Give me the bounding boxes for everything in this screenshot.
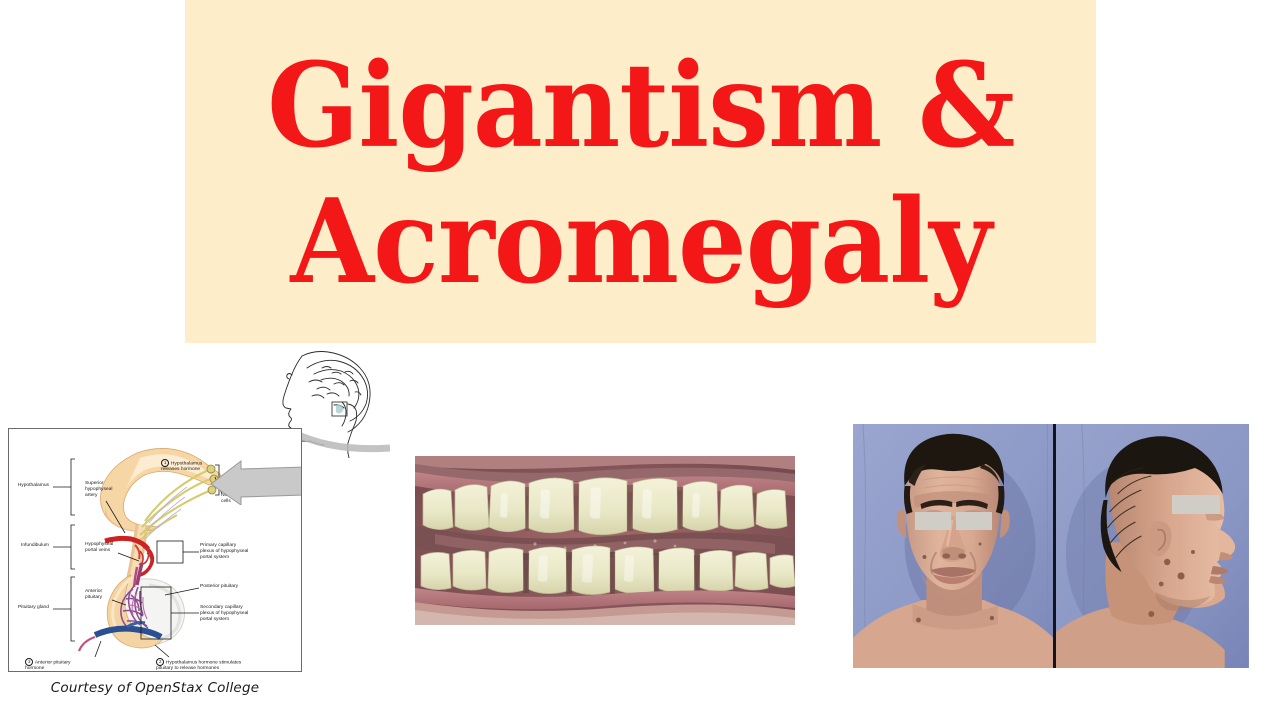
title-line-1: Gigantism & <box>267 36 1014 178</box>
title-line-2: Acromegaly <box>290 172 991 314</box>
label-hypothalamus: Hypothalamus <box>15 483 49 489</box>
eye-censor-bar-profile <box>1172 495 1220 515</box>
pituitary-diagram-frame: Hypothalamus Infundibulum Pituitary glan… <box>8 428 302 672</box>
figure-pituitary-diagram: Hypothalamus Infundibulum Pituitary glan… <box>0 350 340 720</box>
step-2-hypothalamus-hormone-stimulates: 2Hypothalamus hormone stimulates pituita… <box>156 652 284 672</box>
step-2-text: Hypothalamus hormone stimulates pituitar… <box>156 660 241 671</box>
label-posterior-pituitary: Posterior pituitary <box>200 584 272 590</box>
eye-censor-bar-left <box>915 512 951 530</box>
step-3-anterior-pituitary-hormone: 3Anterior pituitary hormone <box>25 652 103 672</box>
photo-teeth-diastema <box>415 456 795 625</box>
patient-frontal-view <box>853 424 1053 668</box>
label-superior-hypophyseal-artery: Superior hypophyseal artery <box>85 481 125 499</box>
label-anterior-pituitary: Anterior pituitary <box>85 589 121 601</box>
photo-acromegaly-patient <box>853 424 1249 668</box>
title-banner: Gigantism & Acromegaly <box>185 0 1096 343</box>
figure-caption: Courtesy of OpenStax College <box>8 680 302 696</box>
label-primary-capillary-plexus: Primary capillary plexus of hypophyseal … <box>200 543 270 561</box>
label-infundibulum: Infundibulum <box>15 543 49 549</box>
eye-censor-bar-right <box>956 512 992 530</box>
label-secondary-capillary-plexus: Secondary capillary plexus of hypophysea… <box>200 605 272 623</box>
label-pituitary-gland: Pituitary gland <box>11 605 49 611</box>
label-hypophyseal-portal-veins: Hypophyseal portal veins <box>85 542 125 554</box>
patient-profile-view <box>1053 424 1249 668</box>
zoom-arrow-icon <box>205 457 302 505</box>
